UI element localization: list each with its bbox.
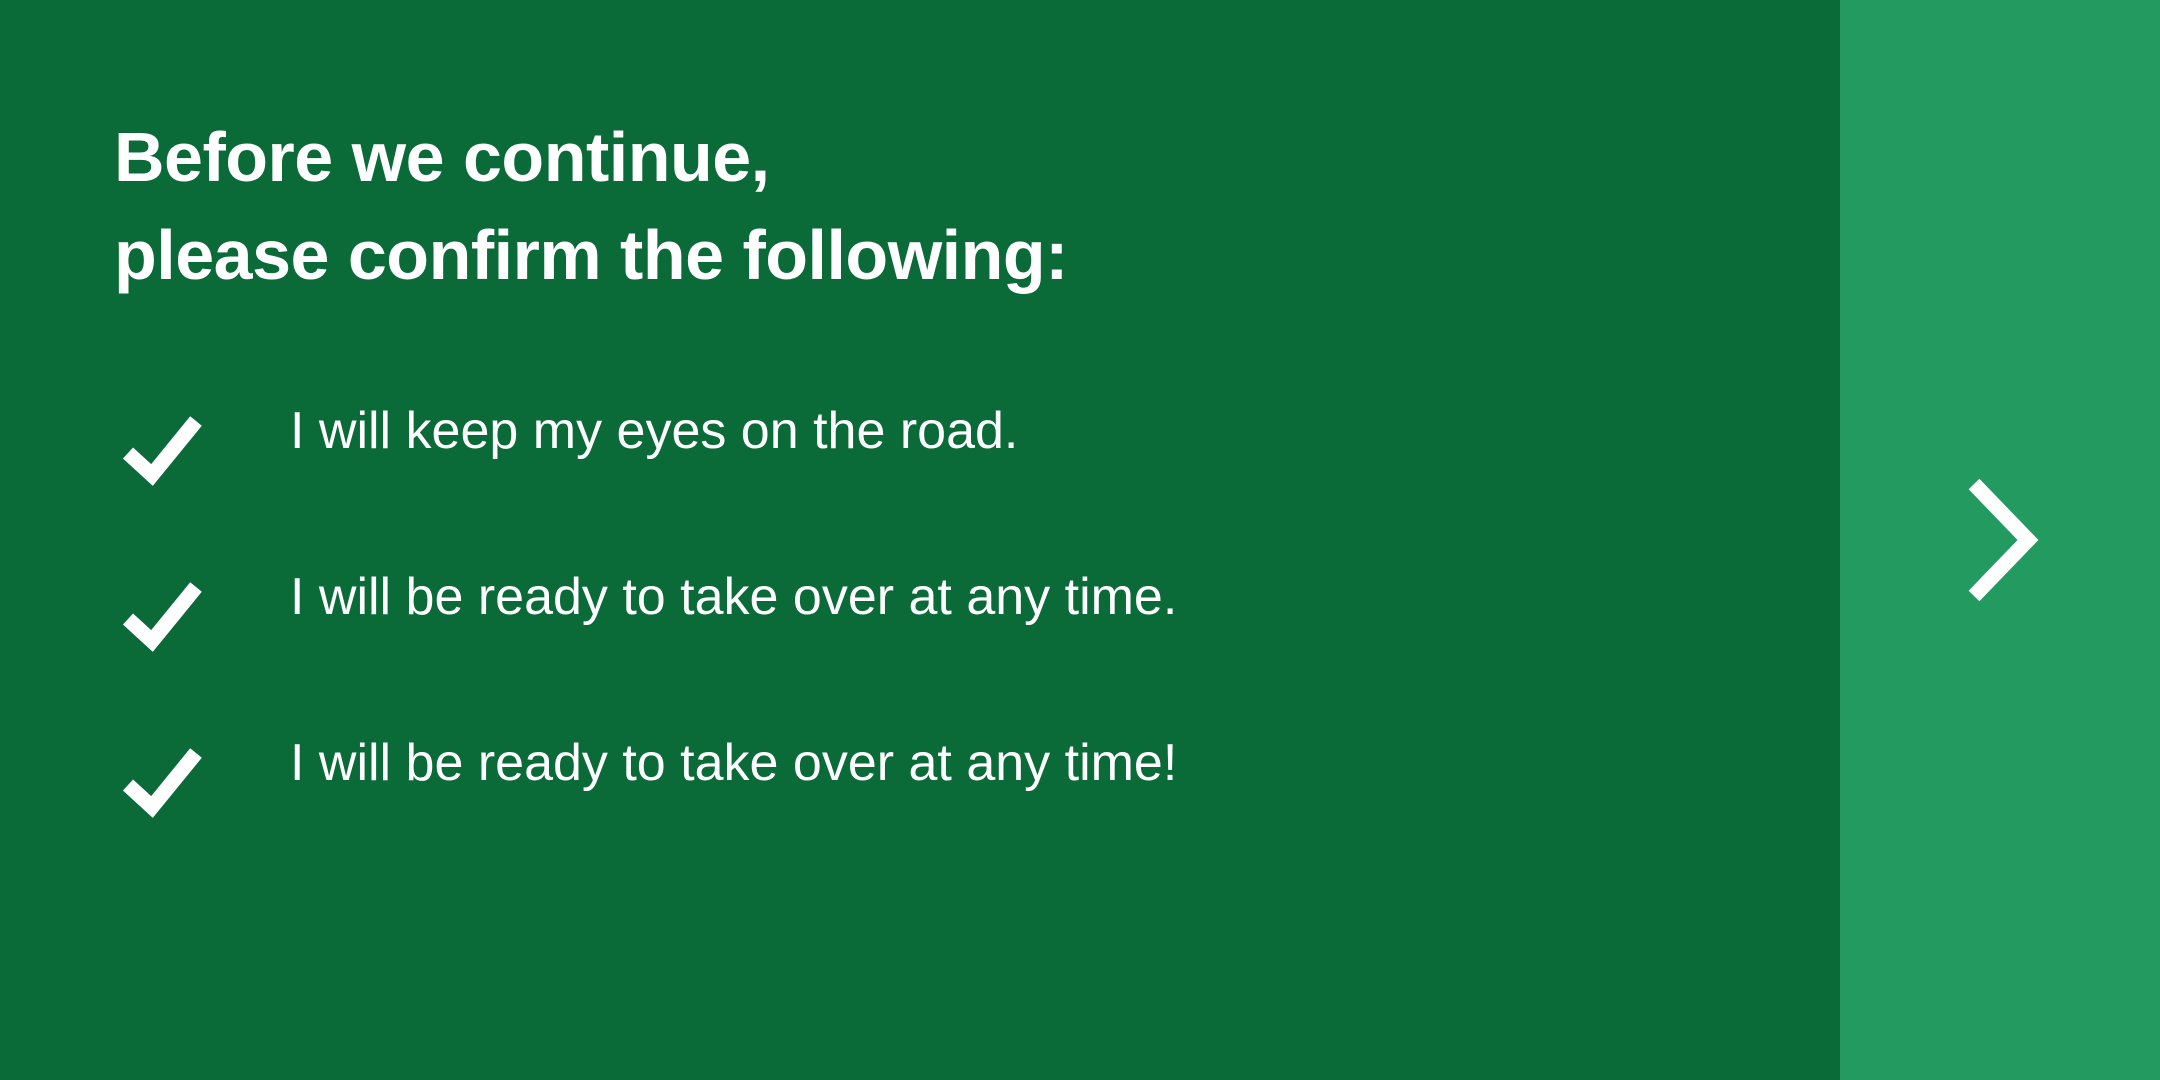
check-icon (114, 731, 210, 827)
side-panel: Continue (1840, 0, 2160, 1080)
chevron-right-icon (1952, 470, 2048, 610)
next-button[interactable]: Continue (1840, 0, 2160, 1080)
list-item[interactable]: I will keep my eyes on the road. (114, 383, 1714, 549)
list-item-label: I will be ready to take over at any time… (290, 549, 1177, 645)
check-icon (114, 399, 210, 495)
list-item[interactable]: I will be ready to take over at any time… (114, 549, 1714, 715)
confirmation-checklist: I will keep my eyes on the road. I will … (114, 383, 1714, 881)
list-item[interactable]: I will be ready to take over at any time… (114, 715, 1714, 881)
check-icon (114, 565, 210, 661)
list-item-label: I will be ready to take over at any time… (290, 715, 1177, 811)
page-title: Before we continue, please confirm the f… (114, 108, 1068, 304)
main-panel: Before we continue, please confirm the f… (0, 0, 1840, 1080)
list-item-label: I will keep my eyes on the road. (290, 383, 1018, 479)
screen-root: Before we continue, please confirm the f… (0, 0, 2160, 1080)
